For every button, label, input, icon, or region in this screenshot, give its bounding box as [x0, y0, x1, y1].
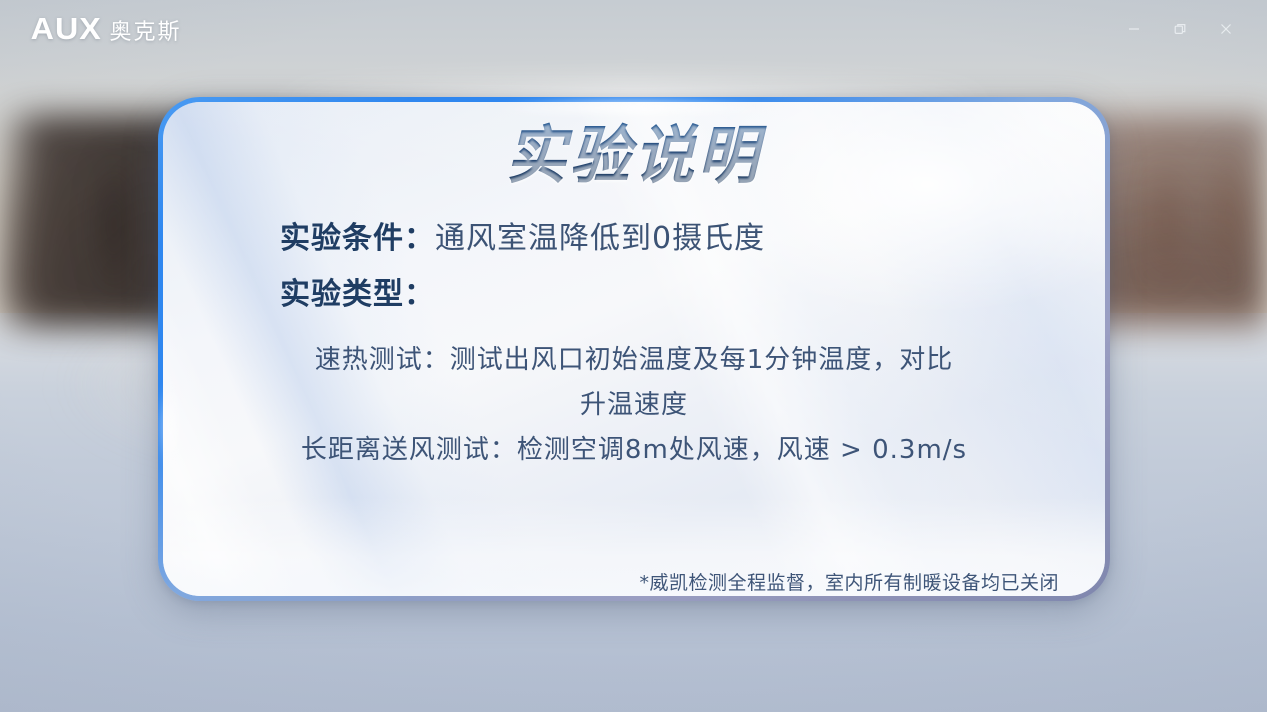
close-button[interactable]	[1203, 12, 1249, 46]
experiment-condition-row: 实验条件： 通风室温降低到0摄氏度	[280, 213, 1061, 257]
card-surface: 实验说明 实验条件： 通风室温降低到0摄氏度 实验类型： 速热测试：测试出风口初…	[163, 102, 1105, 596]
close-icon	[1219, 22, 1233, 36]
experiment-type-label: 实验类型：	[280, 269, 435, 313]
experiment-type-row: 实验类型：	[280, 269, 1061, 313]
minimize-icon	[1127, 22, 1141, 36]
card-footnote: *威凯检测全程监督，室内所有制暖设备均已关闭	[639, 568, 1059, 595]
title-bar: AUX 奥克斯	[0, 0, 1267, 58]
restore-button[interactable]	[1157, 12, 1203, 46]
restore-icon	[1173, 22, 1187, 36]
experiment-condition-label: 实验条件：	[280, 213, 435, 257]
window-controls	[1111, 12, 1249, 46]
brand-logo-chinese: 奥克斯	[109, 14, 181, 46]
minimize-button[interactable]	[1111, 12, 1157, 46]
detail-line-heat-rate: 升温速度	[207, 384, 1061, 421]
experiment-condition-value: 通风室温降低到0摄氏度	[435, 213, 765, 257]
card-border: 实验说明 实验条件： 通风室温降低到0摄氏度 实验类型： 速热测试：测试出风口初…	[158, 97, 1110, 601]
brand-logo: AUX 奥克斯	[32, 11, 181, 47]
card-title: 实验说明	[207, 121, 1061, 190]
detail-line-rapid-heat: 速热测试：测试出风口初始温度及每1分钟温度，对比	[207, 339, 1061, 376]
app-window: AUX 奥克斯	[0, 0, 1267, 712]
card-content: 实验说明 实验条件： 通风室温降低到0摄氏度 实验类型： 速热测试：测试出风口初…	[163, 123, 1105, 596]
brand-logo-latin: AUX	[31, 11, 102, 47]
info-card: 实验说明 实验条件： 通风室温降低到0摄氏度 实验类型： 速热测试：测试出风口初…	[158, 97, 1110, 601]
detail-line-long-range: 长距离送风测试：检测空调8m处风速，风速 > 0.3m/s	[207, 429, 1061, 466]
